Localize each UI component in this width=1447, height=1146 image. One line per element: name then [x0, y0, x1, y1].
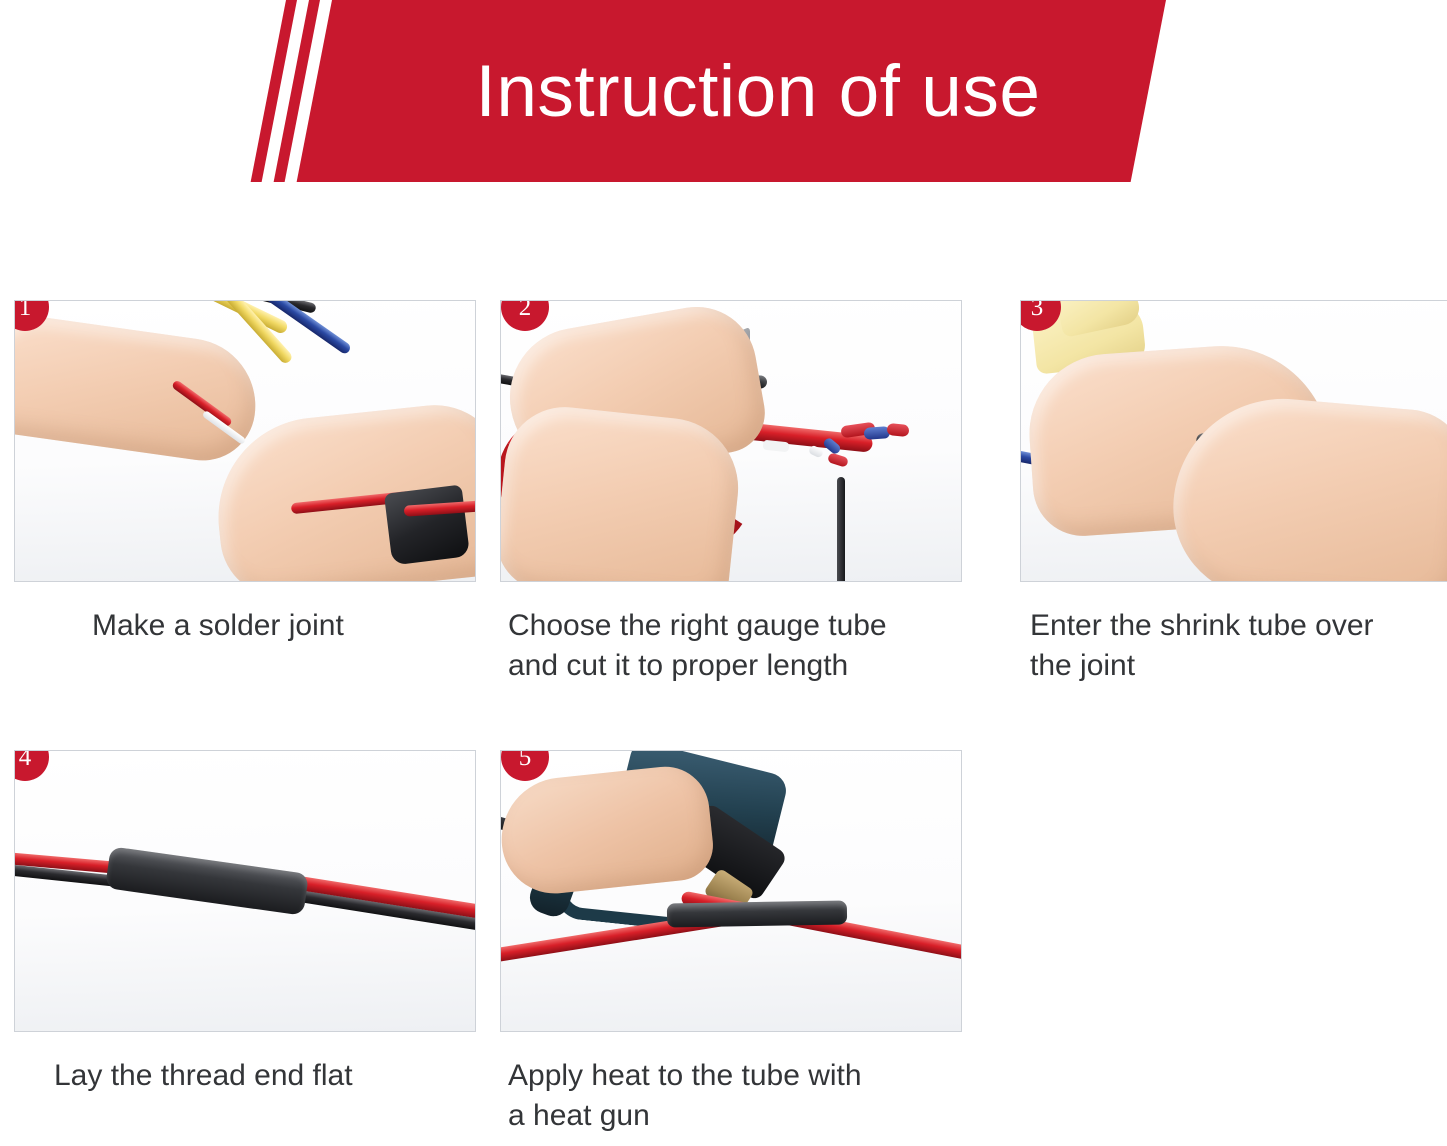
step-caption-2: Choose the right gauge tube and cut it t…	[500, 606, 962, 685]
step-card-2: 2 Choose the right gauge tube and cut it…	[500, 300, 962, 685]
photo-scene-cut-tube	[501, 301, 961, 581]
shrink-tube	[666, 901, 846, 928]
step-caption-1: Make a solder joint	[14, 606, 476, 646]
step-card-3: 3 Enter the shrink tube over the joint	[1020, 300, 1447, 685]
photo-scene-heat-gun	[501, 751, 961, 1031]
page-title: Instruction of use	[332, 0, 1166, 182]
steps-grid: 1 Make a solder joint	[0, 300, 1447, 1146]
step-card-4: 4 Lay the thread end flat	[14, 750, 476, 1096]
photo-scene-flat-joint	[15, 751, 475, 1031]
banner-stripe-icon	[251, 0, 297, 182]
step-photo-2: 2	[500, 300, 962, 582]
steps-row-bottom: 4 Lay the thread end flat	[0, 750, 1447, 1146]
photo-scene-solder-joint	[15, 301, 475, 581]
step-photo-5: 5	[500, 750, 962, 1032]
steps-row-top: 1 Make a solder joint	[0, 300, 1447, 750]
step-caption-5: Apply heat to the tube with a heat gun	[500, 1056, 962, 1135]
tube-piece-red	[887, 423, 910, 437]
header-banner: Instruction of use	[0, 0, 1447, 200]
step-photo-3: 3	[1020, 300, 1447, 582]
step-photo-4: 4	[14, 750, 476, 1032]
step-photo-1: 1	[14, 300, 476, 582]
fuse-holder	[384, 484, 470, 565]
black-tube-piece	[837, 477, 845, 582]
step-card-1: 1 Make a solder joint	[14, 300, 476, 646]
step-caption-3: Enter the shrink tube over the joint	[1020, 606, 1447, 685]
photo-scene-slide-tube	[1021, 301, 1447, 581]
step-card-5: 5 Apply heat to the tube with a heat gun	[500, 750, 962, 1135]
step-caption-4: Lay the thread end flat	[14, 1056, 476, 1096]
